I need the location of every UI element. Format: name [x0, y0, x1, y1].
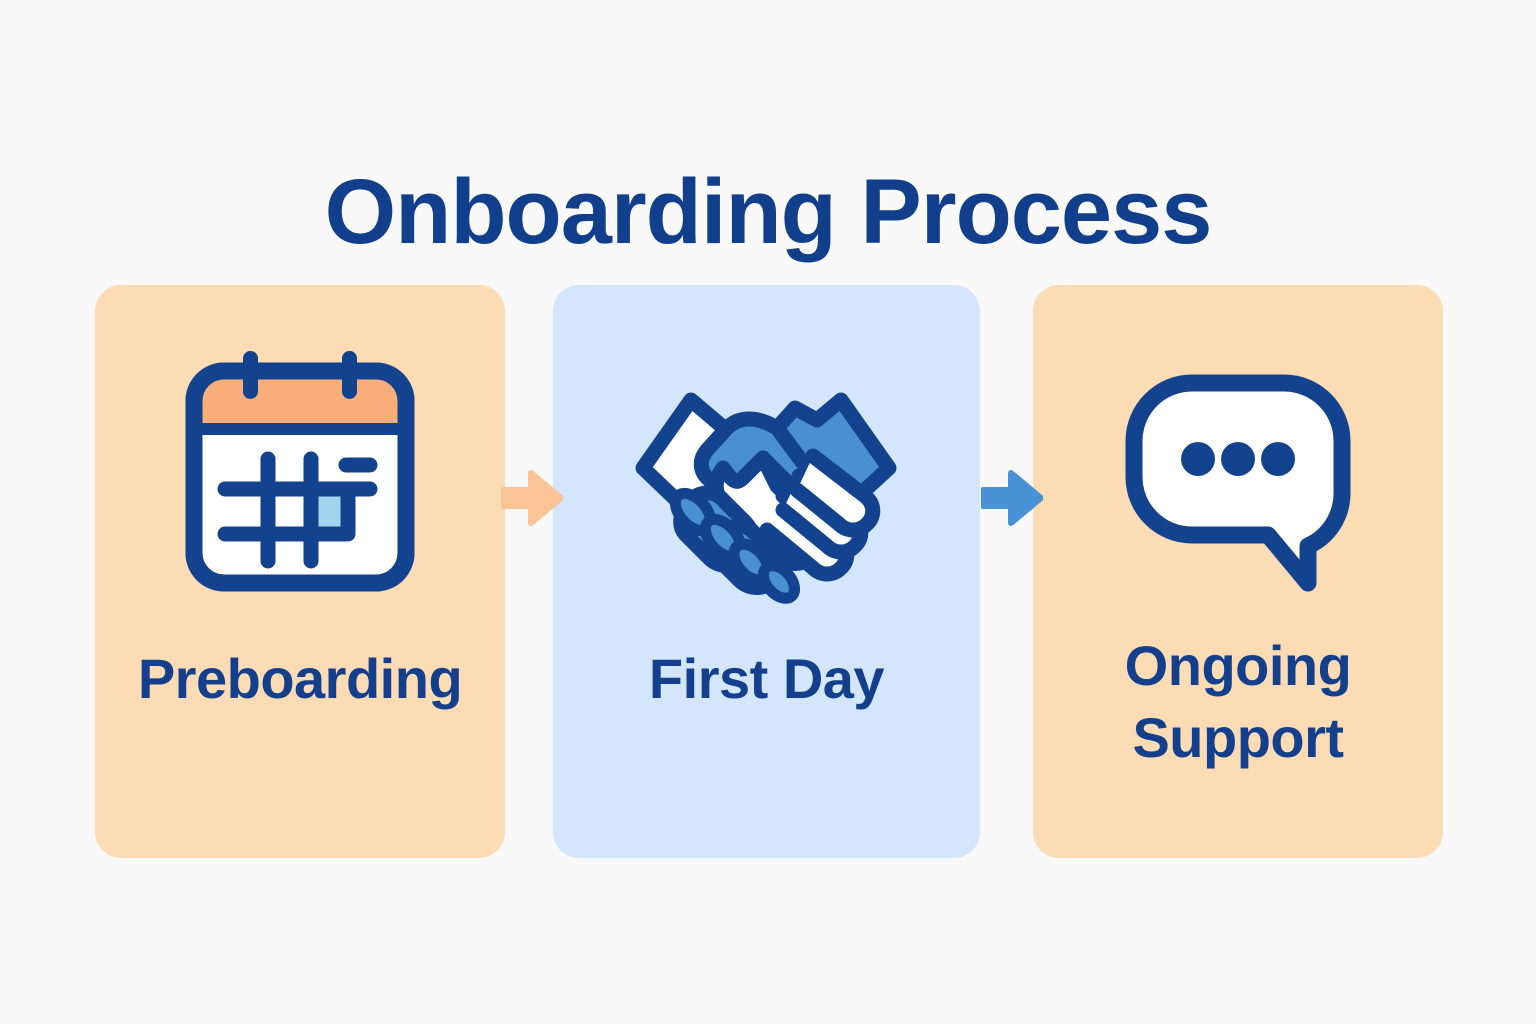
calendar-icon-wrap [95, 343, 505, 603]
calendar-icon [180, 349, 420, 597]
dot-2 [1221, 442, 1255, 476]
connector-arrow-1 [501, 468, 563, 528]
step-card-preboarding[interactable]: Preboarding [95, 285, 505, 858]
connector-arrow-2 [981, 468, 1043, 528]
dot-1 [1181, 442, 1215, 476]
speech-bubble-icon [1122, 367, 1354, 599]
step-label-line-2: Support [1033, 702, 1443, 774]
step-label-first-day: First Day [553, 643, 980, 715]
arrow-right-icon [981, 468, 1043, 528]
page-title: Onboarding Process [0, 166, 1536, 258]
speech-bubble-icon-wrap [1033, 353, 1443, 613]
infographic-root: Onboarding Process [0, 0, 1536, 1024]
step-label-ongoing-support: Ongoing Support [1033, 630, 1443, 773]
step-card-ongoing-support[interactable]: Ongoing Support [1033, 285, 1443, 858]
handshake-icon-wrap [553, 363, 980, 613]
dot-3 [1261, 442, 1295, 476]
steps-row: Preboarding [95, 285, 1443, 858]
step-card-first-day[interactable]: First Day [553, 285, 980, 858]
arrow-right-icon [501, 468, 563, 528]
step-label-preboarding: Preboarding [95, 643, 505, 715]
step-label-line-1: Ongoing [1033, 630, 1443, 702]
handshake-icon [627, 372, 907, 604]
